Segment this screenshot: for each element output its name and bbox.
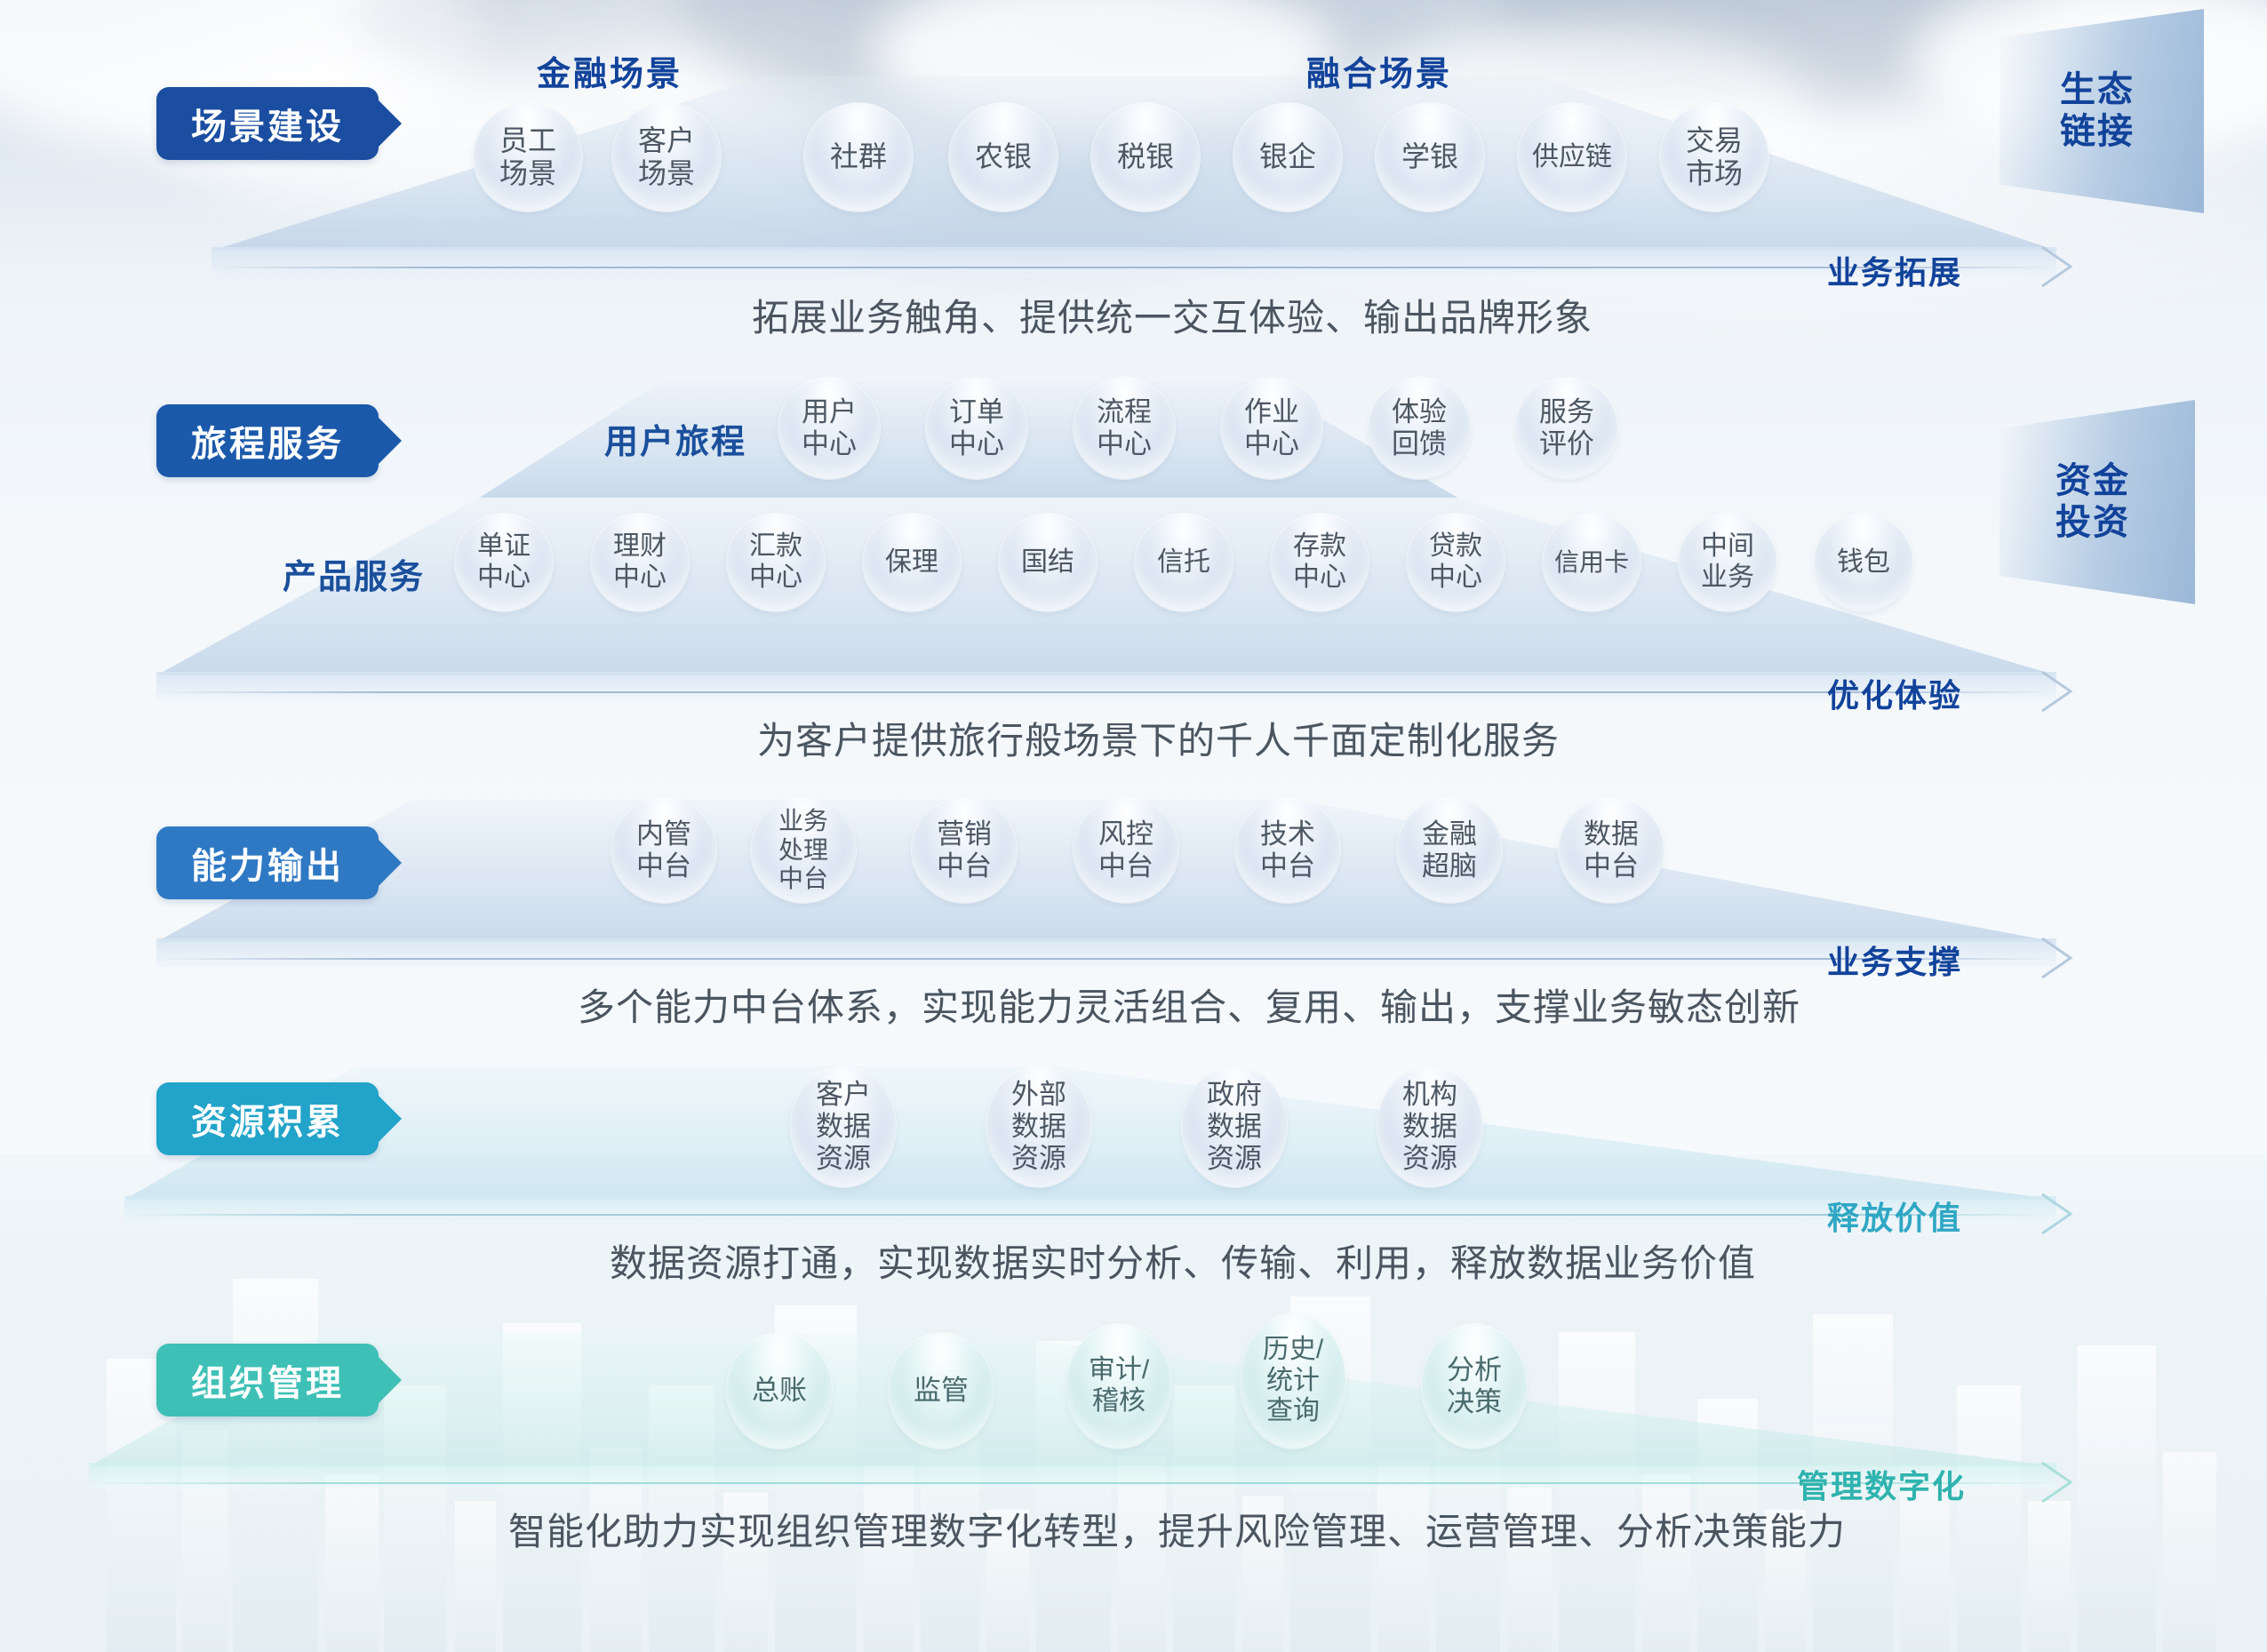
chevron-right-icon-layer-5 — [2040, 1461, 2087, 1504]
circle-intermediary-business[interactable]: 中间 业务 — [1679, 514, 1776, 611]
circle-label: 客户 数据 资源 — [816, 1079, 871, 1175]
wedge-ecosystem-link: 生态 链接 — [2000, 9, 2204, 213]
circle-customer-data-resource[interactable]: 客户 数据 资源 — [791, 1066, 896, 1187]
circle-community[interactable]: 社群 — [804, 103, 913, 211]
circle-label: 税银 — [1117, 140, 1174, 173]
heading-product-service: 产品服务 — [283, 549, 425, 598]
circle-data-platform[interactable]: 数据 中台 — [1559, 798, 1664, 903]
circle-label: 理财 中心 — [613, 531, 667, 594]
wedge-label: 生态 链接 — [2000, 69, 2195, 153]
rule-label-optimize-experience: 优化体验 — [1827, 670, 1962, 716]
tag-label: 场景建设 — [191, 98, 344, 149]
description-layer-4: 数据资源打通，实现数据实时分析、传输、利用，释放数据业务价值 — [610, 1233, 1756, 1288]
description-layer-5: 智能化助力实现组织管理数字化转型，提升风险管理、运营管理、分析决策能力 — [508, 1502, 1846, 1556]
circle-label: 信用卡 — [1554, 548, 1629, 577]
circle-credit-card[interactable]: 信用卡 — [1543, 514, 1640, 611]
description-layer-3: 多个能力中台体系，实现能力灵活组合、复用、输出，支撑业务敏态创新 — [578, 978, 1800, 1032]
tag-nib — [379, 1357, 402, 1403]
circle-label: 中间 业务 — [1701, 531, 1754, 594]
circle-risk-control-platform[interactable]: 风控 中台 — [1074, 798, 1178, 903]
circle-label: 存款 中心 — [1293, 531, 1346, 594]
circle-trust[interactable]: 信托 — [1135, 514, 1233, 611]
circle-business-process-platform[interactable]: 业务 处理 中台 — [751, 798, 856, 903]
heading-fusion-scenes: 融合场景 — [1306, 46, 1452, 95]
circle-supervision[interactable]: 监管 — [889, 1333, 994, 1448]
circle-label: 社群 — [830, 140, 887, 173]
chevron-right-icon-layer-1 — [2040, 245, 2087, 288]
circle-label: 审计/ 稽核 — [1089, 1355, 1149, 1417]
circle-experience-feedback[interactable]: 体验 回馈 — [1369, 378, 1470, 479]
circle-label: 数据 中台 — [1584, 818, 1639, 882]
circle-label: 监管 — [914, 1375, 969, 1407]
circle-internal-mgmt-platform[interactable]: 内管 中台 — [611, 798, 716, 903]
rule-label-management-digitalization: 管理数字化 — [1797, 1461, 1966, 1507]
rule-label-business-support: 业务支撑 — [1827, 937, 1962, 983]
circle-label: 作业 中心 — [1244, 396, 1299, 460]
circle-label: 贷款 中心 — [1429, 531, 1482, 594]
circle-label: 供应链 — [1532, 142, 1612, 173]
circle-remittance-center[interactable]: 汇款 中心 — [727, 514, 825, 611]
chevron-right-icon-layer-2 — [2040, 670, 2087, 713]
circle-customer-scene[interactable]: 客户 场景 — [612, 103, 721, 211]
description-layer-1: 拓展业务触角、提供统一交互体验、输出品牌形象 — [752, 288, 1592, 342]
circle-loan-center[interactable]: 贷款 中心 — [1407, 514, 1505, 611]
circle-label: 营销 中台 — [937, 818, 992, 882]
circle-label: 风控 中台 — [1098, 818, 1153, 882]
circle-user-center[interactable]: 用户 中心 — [778, 378, 880, 479]
chevron-right-icon-layer-4 — [2040, 1193, 2087, 1235]
circle-label: 保理 — [885, 547, 938, 579]
circle-label: 交易 市场 — [1686, 124, 1743, 190]
circle-label: 外部 数据 资源 — [1011, 1079, 1066, 1175]
circle-label: 技术 中台 — [1260, 818, 1315, 882]
circle-deposit-center[interactable]: 存款 中心 — [1271, 514, 1369, 611]
circle-label: 信托 — [1157, 547, 1210, 579]
circle-label: 用户 中心 — [802, 396, 857, 460]
circle-factoring[interactable]: 保理 — [863, 514, 961, 611]
rule-label-release-value: 释放价值 — [1827, 1193, 1962, 1239]
circle-service-evaluation[interactable]: 服务 评价 — [1516, 378, 1617, 479]
circle-label: 员工 场景 — [499, 124, 556, 190]
circle-label: 内管 中台 — [636, 818, 691, 882]
tag-capability-output[interactable]: 能力输出 — [156, 826, 379, 899]
circle-process-center[interactable]: 流程 中心 — [1074, 378, 1175, 479]
tag-resource-accumulation[interactable]: 资源积累 — [156, 1082, 379, 1155]
circle-document-center[interactable]: 单证 中心 — [455, 514, 553, 611]
circle-label: 国结 — [1021, 547, 1074, 579]
circle-label: 钱包 — [1837, 547, 1890, 579]
circle-label: 学银 — [1401, 140, 1458, 173]
circle-label: 农银 — [975, 140, 1032, 173]
circle-label: 流程 中心 — [1097, 396, 1152, 460]
circle-school-bank[interactable]: 学银 — [1376, 103, 1484, 211]
circle-label: 单证 中心 — [477, 531, 531, 594]
tag-nib — [379, 100, 402, 147]
circle-general-ledger[interactable]: 总账 — [727, 1333, 832, 1448]
circle-external-data-resource[interactable]: 外部 数据 资源 — [986, 1066, 1091, 1187]
tag-nib — [379, 840, 402, 886]
circle-trading-market[interactable]: 交易 市场 — [1660, 103, 1768, 211]
circle-label: 机构 数据 资源 — [1402, 1079, 1457, 1175]
circle-analysis-decision[interactable]: 分析 决策 — [1422, 1324, 1527, 1448]
circle-agri-bank[interactable]: 农银 — [949, 103, 1058, 211]
circle-label: 分析 决策 — [1447, 1354, 1502, 1418]
wedge-capital-investment: 资金 投资 — [2000, 400, 2195, 604]
tag-label: 旅程服务 — [191, 415, 344, 467]
circle-marketing-platform[interactable]: 营销 中台 — [912, 798, 1017, 903]
tag-journey-service[interactable]: 旅程服务 — [156, 404, 379, 477]
rule-label-business-expansion: 业务拓展 — [1827, 247, 1962, 293]
tag-label: 组织管理 — [191, 1354, 344, 1406]
tag-label: 能力输出 — [191, 837, 344, 889]
circle-international-settlement[interactable]: 国结 — [999, 514, 1097, 611]
circle-tax-bank[interactable]: 税银 — [1091, 103, 1200, 211]
tag-scene-construction[interactable]: 场景建设 — [156, 87, 379, 160]
circle-history-statistics-query[interactable]: 历史/ 统计 查询 — [1241, 1313, 1345, 1448]
circle-label: 体验 回馈 — [1392, 396, 1447, 460]
circle-label: 客户 场景 — [638, 124, 695, 190]
circle-institution-data-resource[interactable]: 机构 数据 资源 — [1377, 1066, 1482, 1187]
circle-technology-platform[interactable]: 技术 中台 — [1235, 798, 1340, 903]
circle-government-data-resource[interactable]: 政府 数据 资源 — [1182, 1066, 1287, 1187]
circle-label: 汇款 中心 — [749, 531, 802, 594]
circle-operation-center[interactable]: 作业 中心 — [1221, 378, 1322, 479]
circle-wealth-center[interactable]: 理财 中心 — [591, 514, 689, 611]
circle-audit-inspection[interactable]: 审计/ 稽核 — [1066, 1324, 1171, 1448]
circle-label: 服务 评价 — [1539, 396, 1594, 460]
circle-label: 金融 超脑 — [1422, 818, 1477, 882]
circle-supply-chain[interactable]: 供应链 — [1518, 103, 1626, 211]
heading-financial-scenes: 金融场景 — [537, 46, 682, 95]
circle-order-center[interactable]: 订单 中心 — [926, 378, 1027, 479]
tag-label: 资源积累 — [191, 1093, 344, 1145]
tag-organization-management[interactable]: 组织管理 — [156, 1344, 379, 1417]
circle-bank-enterprise[interactable]: 银企 — [1233, 103, 1342, 211]
wedge-label: 资金 投资 — [2000, 460, 2186, 544]
architecture-diagram: 场景建设 金融场景 融合场景 员工 场景 客户 场景 社群 农银 税银 银企 学… — [0, 0, 2267, 1652]
circle-label: 银企 — [1259, 140, 1316, 173]
circle-label: 订单 中心 — [949, 396, 1004, 460]
tag-nib — [379, 1096, 402, 1142]
chevron-right-icon-layer-3 — [2040, 937, 2087, 979]
circle-label: 业务 处理 中台 — [778, 807, 828, 893]
heading-user-journey: 用户旅程 — [604, 414, 746, 463]
tag-nib — [379, 418, 402, 464]
description-layer-2: 为客户提供旅行般场景下的千人千面定制化服务 — [757, 711, 1560, 765]
circle-label: 总账 — [752, 1375, 807, 1407]
circle-label: 历史/ 统计 查询 — [1263, 1335, 1323, 1427]
circle-financial-brain[interactable]: 金融 超脑 — [1397, 798, 1502, 903]
circle-label: 政府 数据 资源 — [1207, 1079, 1262, 1175]
circle-wallet[interactable]: 钱包 — [1815, 514, 1912, 611]
circle-staff-scene[interactable]: 员工 场景 — [474, 103, 582, 211]
